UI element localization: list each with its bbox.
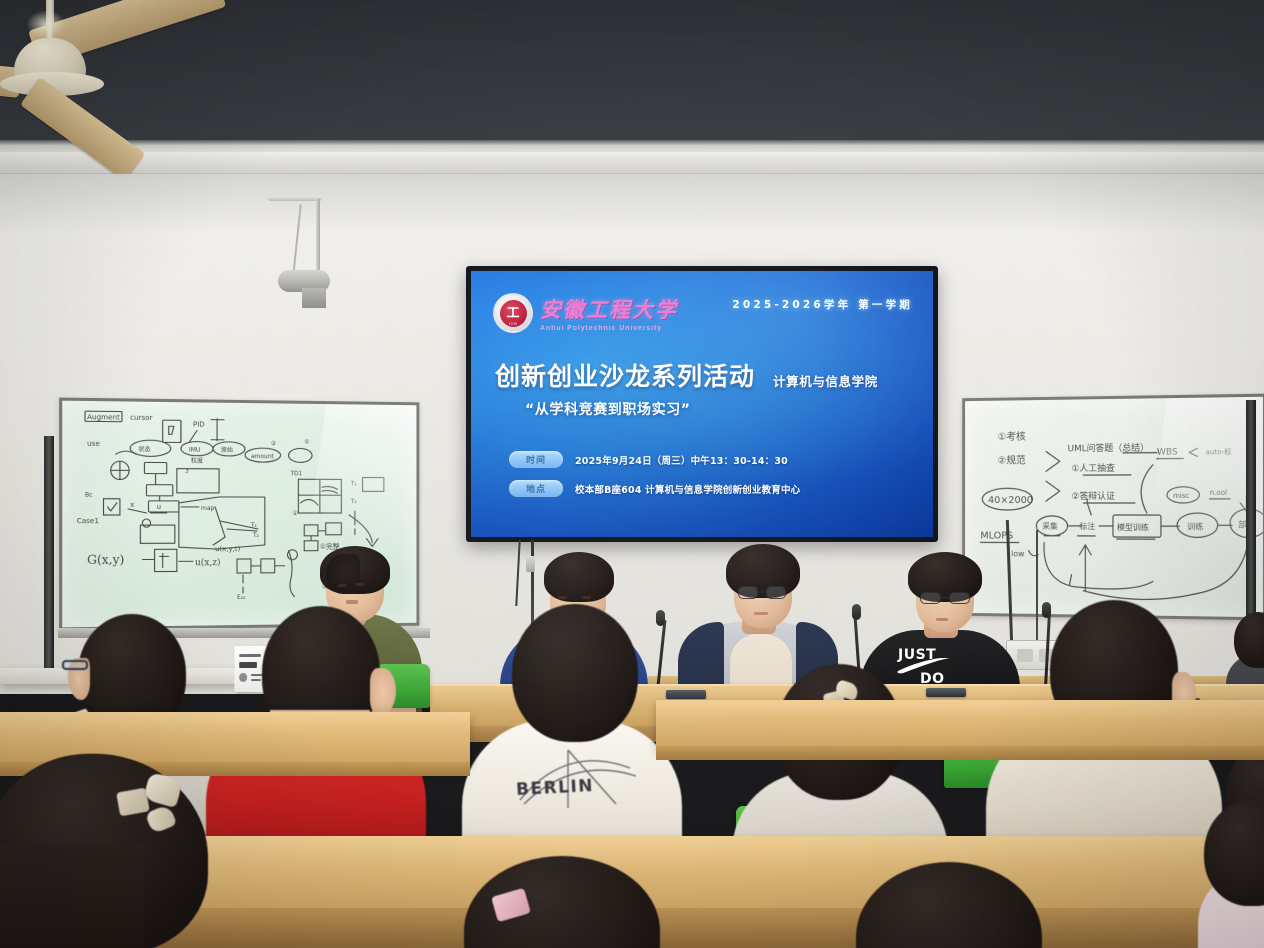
university-logo: 工 1935 安徽工程大学 Anhui Polytechnic Universi… <box>493 293 678 333</box>
seal-glyph: 工 <box>506 307 519 320</box>
phone-on-table <box>666 690 706 699</box>
university-seal-icon: 工 1935 <box>493 293 533 333</box>
panelist-4-glasses-bridge <box>941 597 949 599</box>
panelist-4-mouth <box>936 618 948 621</box>
tent-card-line <box>239 654 261 657</box>
svg-text:①考核: ①考核 <box>998 430 1026 443</box>
event-subtitle: “从学科竞赛到职场实习” <box>525 399 691 419</box>
whiteboard-left-post <box>44 436 54 684</box>
svg-text:u(x,y,t): u(x,y,t) <box>215 544 241 553</box>
event-info-block: 时间 2025年9月24日（周三）中午13：30-14：30 地点 校本部B座6… <box>509 451 800 497</box>
panelist-4-glasses <box>920 592 941 604</box>
panelist-4-shirt-text-line1: JUST <box>898 648 936 662</box>
svg-text:TD1: TD1 <box>289 470 302 477</box>
svg-text:T₂: T₂ <box>252 532 260 539</box>
panelist-2-eye <box>582 596 591 599</box>
svg-text:状态: 状态 <box>138 445 150 453</box>
student-2-ear <box>370 668 396 714</box>
camera-post <box>316 199 320 277</box>
panelist-1-mouth <box>346 600 358 604</box>
student-6-hair-overlay <box>0 844 144 948</box>
microphone-head <box>656 610 665 626</box>
student-3-shirt-text: BERLIN <box>516 776 595 800</box>
panelist-2-hair <box>544 552 614 602</box>
camera-arm <box>268 196 322 201</box>
presentation-display[interactable]: 工 1935 安徽工程大学 Anhui Polytechnic Universi… <box>466 266 938 542</box>
svg-text:PID: PID <box>193 420 205 429</box>
svg-text:②规范: ②规范 <box>998 453 1026 466</box>
panelist-3-glasses-bridge <box>758 591 766 593</box>
wall-shadow <box>0 174 1264 234</box>
host-department: 计算机与信息学院 <box>773 371 878 393</box>
panelist-1-eye <box>338 584 346 587</box>
fan-light-glow <box>26 10 66 38</box>
classroom-scene: Augment cursor use PID 状态 IMU 原始 map <box>0 0 1264 948</box>
panelist-4-hair <box>908 552 982 602</box>
svg-text:low: low <box>1011 549 1025 558</box>
event-time-value: 2025年9月24日（周三）中午13：30-14：30 <box>575 453 788 467</box>
panelist-4-glasses <box>949 592 970 604</box>
panelist-3-glasses <box>766 586 786 599</box>
svg-text:Case1: Case1 <box>77 516 99 525</box>
location-chip-label: 地点 <box>509 480 563 497</box>
seal-inner: 工 1935 <box>500 300 527 327</box>
svg-text:cursor: cursor <box>130 413 152 422</box>
svg-text:IMU: IMU <box>189 447 200 454</box>
panelist-2-eye <box>558 596 567 599</box>
university-name-cn: 安徽工程大学 <box>540 294 678 324</box>
svg-text:amount: amount <box>251 453 274 460</box>
tent-card-line <box>251 679 261 681</box>
event-location-row: 地点 校本部B座604 计算机与信息学院创新创业教育中心 <box>509 480 800 497</box>
student-3-head <box>512 604 638 742</box>
svg-text:u(x,z): u(x,z) <box>195 557 221 568</box>
panelist-3-mouth <box>754 612 768 615</box>
panelist-3-glasses <box>738 586 758 599</box>
student-desk-row-2-edge <box>656 746 1264 760</box>
event-title: 创新创业沙龙系列活动 <box>495 357 755 393</box>
svg-text:G(x,y): G(x,y) <box>87 553 124 567</box>
event-location-value: 校本部B座604 计算机与信息学院创新创业教育中心 <box>575 482 800 496</box>
event-time-row: 时间 2025年9月24日（周三）中午13：30-14：30 <box>509 451 800 468</box>
tent-card-line <box>239 662 257 668</box>
svg-text:E₂₂: E₂₂ <box>237 594 246 601</box>
svg-text:T₁: T₁ <box>250 522 258 529</box>
phone-on-table <box>926 688 966 697</box>
student-1-glasses <box>62 660 88 670</box>
microphone-head <box>1042 602 1051 618</box>
svg-text:Bc: Bc <box>85 492 93 499</box>
svg-text:x: x <box>130 500 134 509</box>
ceiling <box>0 0 1264 152</box>
event-poster-slide: 工 1935 安徽工程大学 Anhui Polytechnic Universi… <box>471 271 933 537</box>
academic-term-label: 2025-2026学年 第一学期 <box>732 297 913 312</box>
svg-text:①: ① <box>292 510 297 517</box>
svg-text:②答辩认证: ②答辩认证 <box>1072 490 1116 502</box>
svg-text:模型训练: 模型训练 <box>1117 522 1149 532</box>
time-chip-label: 时间 <box>509 451 563 468</box>
wall-cable <box>1036 530 1038 642</box>
microphone-head <box>852 604 861 620</box>
tent-card-mark <box>239 673 247 682</box>
svg-text:Augment: Augment <box>87 412 120 421</box>
camera-mount <box>302 288 326 308</box>
student-desk-row-2 <box>656 700 1264 748</box>
svg-text:40×2000: 40×2000 <box>988 495 1033 506</box>
svg-text:①: ① <box>304 439 309 446</box>
panelist-1-hair-side <box>326 554 360 594</box>
svg-text:②: ② <box>271 440 277 447</box>
panelist-1-eye <box>356 583 364 586</box>
whiteboard-right-post <box>1246 400 1256 630</box>
svg-text:u: u <box>157 502 161 511</box>
svg-text:use: use <box>87 439 100 448</box>
svg-text:采集: 采集 <box>1042 521 1058 531</box>
cable-clip <box>526 556 535 572</box>
svg-text:①人工抽查: ①人工抽查 <box>1072 462 1116 474</box>
seal-year: 1935 <box>500 322 527 326</box>
svg-text:原始: 原始 <box>221 446 233 454</box>
svg-text:map: map <box>201 505 215 512</box>
university-name-en: Anhui Polytechnic University <box>540 325 678 332</box>
ceiling-rail <box>0 152 1264 174</box>
svg-text:标注: 标注 <box>1079 521 1095 531</box>
svg-text:3: 3 <box>185 468 189 475</box>
svg-text:粒度: 粒度 <box>191 457 203 465</box>
